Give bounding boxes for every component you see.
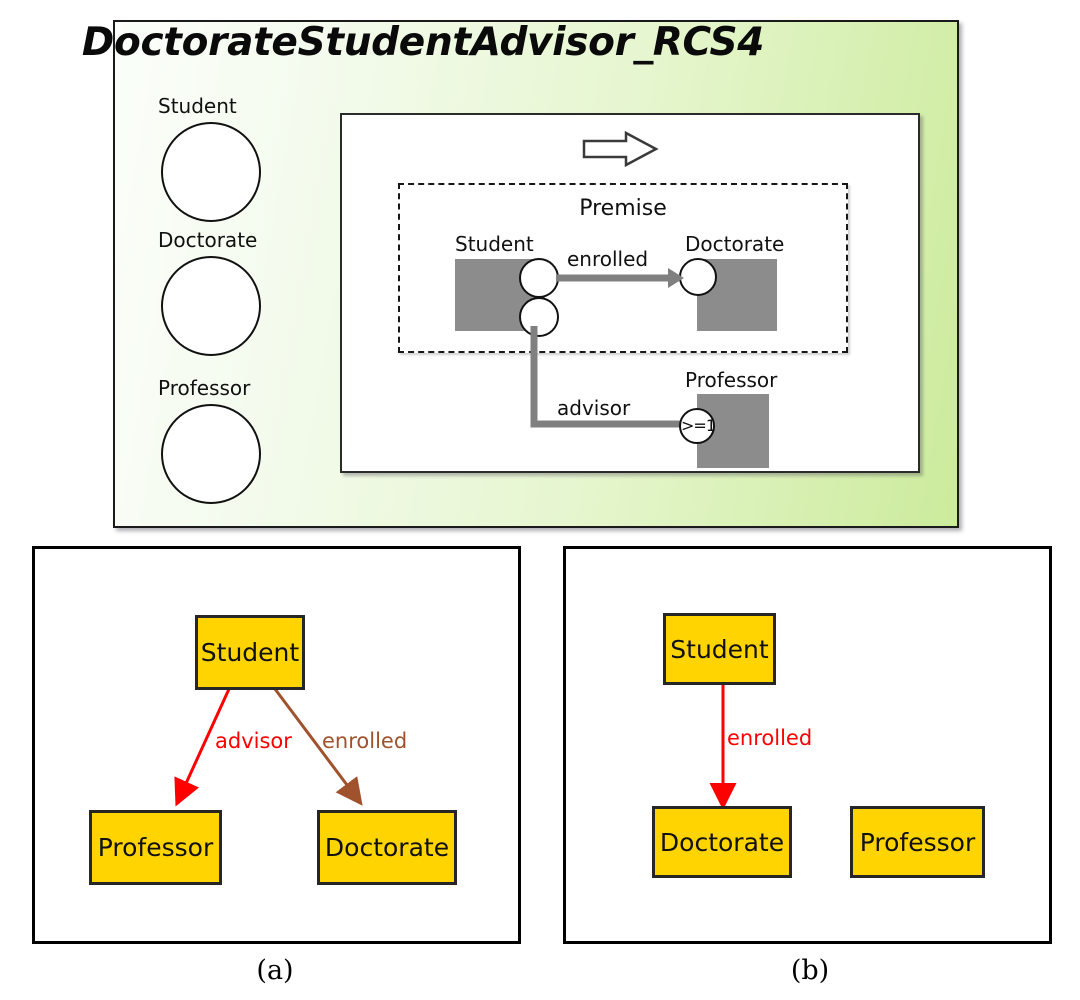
conclusion-node-label-professor: Professor bbox=[685, 368, 777, 392]
panel-a-node-professor[interactable]: Professor bbox=[89, 810, 222, 885]
panel-a-edge-label-enrolled: enrolled bbox=[322, 729, 407, 753]
panel-b-node-doctorate[interactable]: Doctorate bbox=[652, 806, 792, 878]
entity-circle-professor[interactable] bbox=[161, 404, 261, 504]
panel-b-node-student[interactable]: Student bbox=[663, 613, 776, 685]
entity-label-student: Student bbox=[158, 94, 237, 118]
cardinality-label: >=1 bbox=[681, 410, 713, 442]
entity-label-professor: Professor bbox=[158, 376, 250, 400]
premise-port-student-enrolled[interactable] bbox=[519, 258, 559, 298]
premise-node-label-student: Student bbox=[455, 232, 534, 256]
rule-title: DoctorateStudentAdvisor_RCS4 bbox=[0, 20, 846, 65]
conclusion-edge-label-advisor: advisor bbox=[557, 396, 630, 420]
panel-a-edge-label-advisor: advisor bbox=[215, 729, 292, 753]
premise-edge-label-enrolled: enrolled bbox=[567, 247, 648, 271]
premise-title: Premise bbox=[398, 196, 848, 221]
block-arrow-right-icon bbox=[582, 131, 658, 167]
entity-circle-doctorate[interactable] bbox=[161, 256, 261, 356]
panel-a-caption: (a) bbox=[215, 955, 335, 986]
panel-a-node-doctorate[interactable]: Doctorate bbox=[317, 810, 457, 885]
conclusion-port-professor-cardinality[interactable]: >=1 bbox=[679, 408, 715, 444]
panel-b-caption: (b) bbox=[750, 955, 870, 986]
premise-node-label-doctorate: Doctorate bbox=[685, 232, 784, 256]
entity-label-doctorate: Doctorate bbox=[158, 228, 257, 252]
panel-b-node-professor[interactable]: Professor bbox=[850, 806, 985, 878]
panel-b-edge-label-enrolled: enrolled bbox=[727, 726, 812, 750]
entity-circle-student[interactable] bbox=[161, 122, 261, 222]
panel-a-node-student[interactable]: Student bbox=[195, 615, 305, 690]
